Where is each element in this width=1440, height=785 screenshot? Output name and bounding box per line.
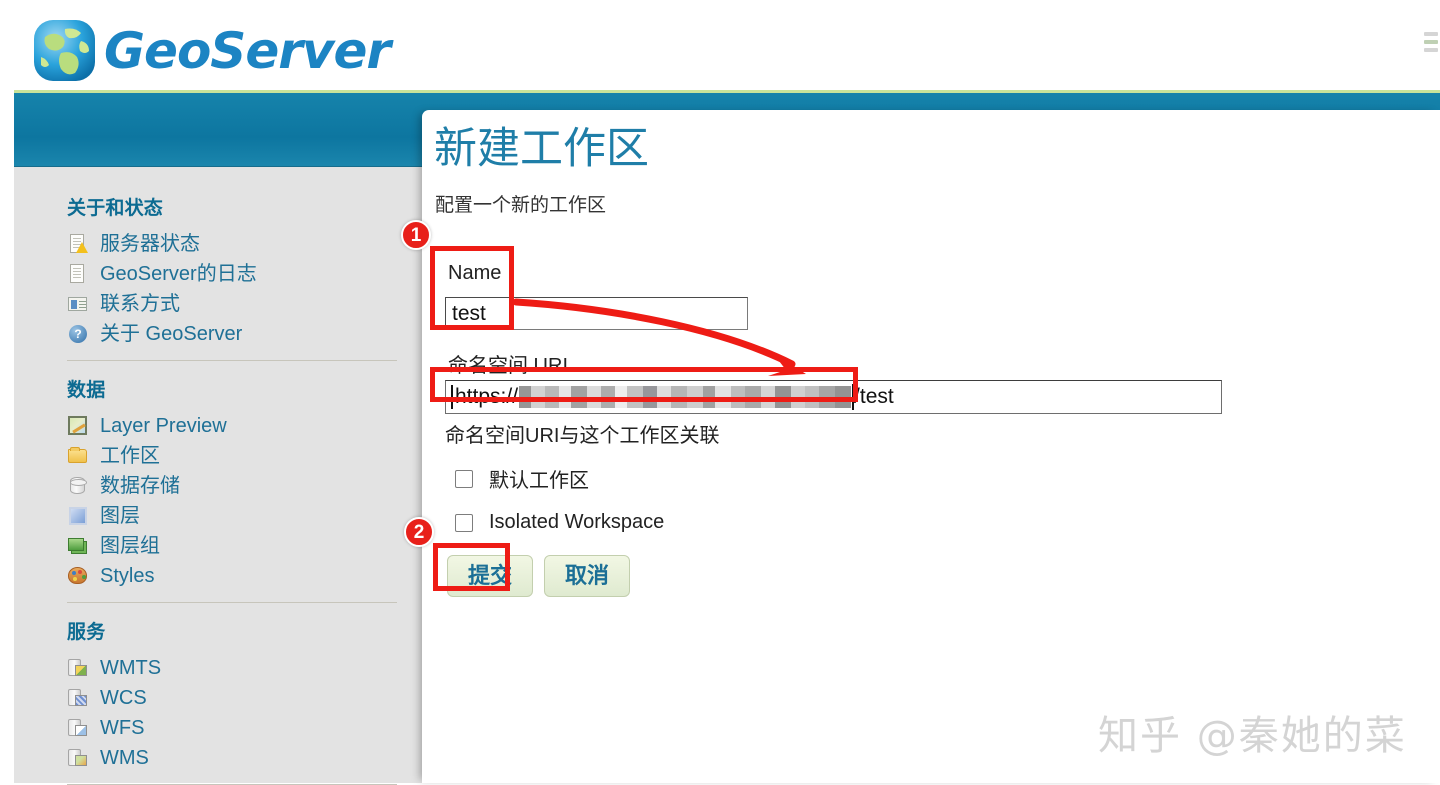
layer-square-icon (67, 505, 89, 527)
sidebar: 关于和状态 服务器状态 GeoServer的日志 联系方式 (14, 167, 438, 783)
uri-field-hint: 命名空间URI与这个工作区关联 (445, 419, 719, 448)
sidebar-group-heading: 数据 (54, 361, 410, 411)
log-document-icon (67, 263, 89, 285)
service-wcs-icon (67, 687, 89, 709)
sidebar-item-label: 服务器状态 (100, 234, 200, 254)
sidebar-group-heading: 关于和状态 (54, 179, 410, 229)
uri-prefix-text: https:// (455, 385, 518, 409)
sidebar-item-label: WCS (100, 688, 147, 708)
default-workspace-checkbox[interactable]: 默认工作区 (455, 464, 589, 493)
checkbox-label: Isolated Workspace (489, 511, 664, 534)
checkbox-label: 默认工作区 (489, 464, 589, 493)
sidebar-item-wms[interactable]: WMS (54, 743, 410, 773)
sidebar-item-label: 数据存储 (100, 476, 180, 496)
service-wms-icon (67, 747, 89, 769)
checkbox-box-icon[interactable] (455, 470, 473, 488)
sidebar-item-wfs[interactable]: WFS (54, 713, 410, 743)
sidebar-item-label: WFS (100, 718, 144, 738)
cancel-button[interactable]: 取消 (544, 555, 630, 597)
form-actions: 提交 取消 (447, 555, 630, 597)
sidebar-group-services: 服务 WMTS WCS WFS (54, 603, 410, 785)
sidebar-group-heading: 服务 (54, 603, 410, 653)
map-preview-icon (67, 415, 89, 437)
content-panel: 新建工作区 配置一个新的工作区 Name 命名空间 URI https:// /… (422, 110, 1440, 783)
sidebar-item-label: Layer Preview (100, 416, 227, 436)
sidebar-item-wmts[interactable]: WMTS (54, 653, 410, 683)
contact-card-icon (67, 293, 89, 315)
sidebar-item-about-geoserver[interactable]: 关于 GeoServer (54, 319, 410, 349)
sidebar-item-label: 关于 GeoServer (100, 324, 242, 344)
page-subtitle: 配置一个新的工作区 (435, 190, 1440, 217)
watermark: 知乎 @秦她的菜 (1098, 703, 1407, 761)
database-icon (67, 475, 89, 497)
sidebar-item-datastores[interactable]: 数据存储 (54, 471, 410, 501)
checkbox-box-icon[interactable] (455, 514, 473, 532)
name-field-label: Name (448, 262, 501, 285)
service-wfs-icon (67, 717, 89, 739)
sidebar-item-workspaces[interactable]: 工作区 (54, 441, 410, 471)
layer-group-icon (67, 535, 89, 557)
isolated-workspace-checkbox[interactable]: Isolated Workspace (455, 511, 664, 534)
sidebar-group-data: 数据 Layer Preview 工作区 数据存储 图层 图层组 (54, 361, 410, 603)
sidebar-item-layers[interactable]: 图层 (54, 501, 410, 531)
sidebar-group-about-status: 关于和状态 服务器状态 GeoServer的日志 联系方式 (54, 179, 410, 361)
sidebar-item-label: 图层组 (100, 536, 160, 556)
sidebar-item-label: 联系方式 (100, 294, 180, 314)
sidebar-item-label: WMTS (100, 658, 161, 678)
sidebar-item-label: WMS (100, 748, 149, 768)
submit-button[interactable]: 提交 (447, 555, 533, 597)
name-input[interactable] (445, 297, 748, 330)
uri-suffix-text: /test (854, 385, 894, 409)
app-header: GeoServer (0, 0, 1440, 93)
annotation-badge-1: 1 (401, 220, 431, 250)
globe-icon (31, 17, 98, 84)
sidebar-item-label: 图层 (100, 506, 140, 526)
page-title: 新建工作区 (434, 127, 1440, 172)
sidebar-item-geoserver-logs[interactable]: GeoServer的日志 (54, 259, 410, 289)
redacted-host-mosaic (519, 386, 851, 408)
text-caret-start-icon (451, 385, 453, 409)
server-status-icon (67, 233, 89, 255)
sidebar-item-layergroups[interactable]: 图层组 (54, 531, 410, 561)
sidebar-item-server-status[interactable]: 服务器状态 (54, 229, 410, 259)
sidebar-item-layer-preview[interactable]: Layer Preview (54, 411, 410, 441)
sidebar-item-contact[interactable]: 联系方式 (54, 289, 410, 319)
annotation-badge-2: 2 (404, 517, 434, 547)
sidebar-item-label: 工作区 (100, 446, 160, 466)
sidebar-item-label: Styles (100, 566, 154, 586)
top-right-partial-icon (1424, 32, 1438, 62)
sidebar-item-wcs[interactable]: WCS (54, 683, 410, 713)
sidebar-item-label: GeoServer的日志 (100, 264, 257, 284)
folder-icon (67, 445, 89, 467)
brand-wordmark: GeoServer (104, 22, 390, 80)
namespace-uri-input[interactable]: https:// /test (445, 380, 1222, 414)
info-circle-icon (67, 323, 89, 345)
palette-icon (67, 565, 89, 587)
sidebar-item-styles[interactable]: Styles (54, 561, 410, 591)
service-wmts-icon (67, 657, 89, 679)
uri-field-label: 命名空间 URI (448, 349, 568, 378)
